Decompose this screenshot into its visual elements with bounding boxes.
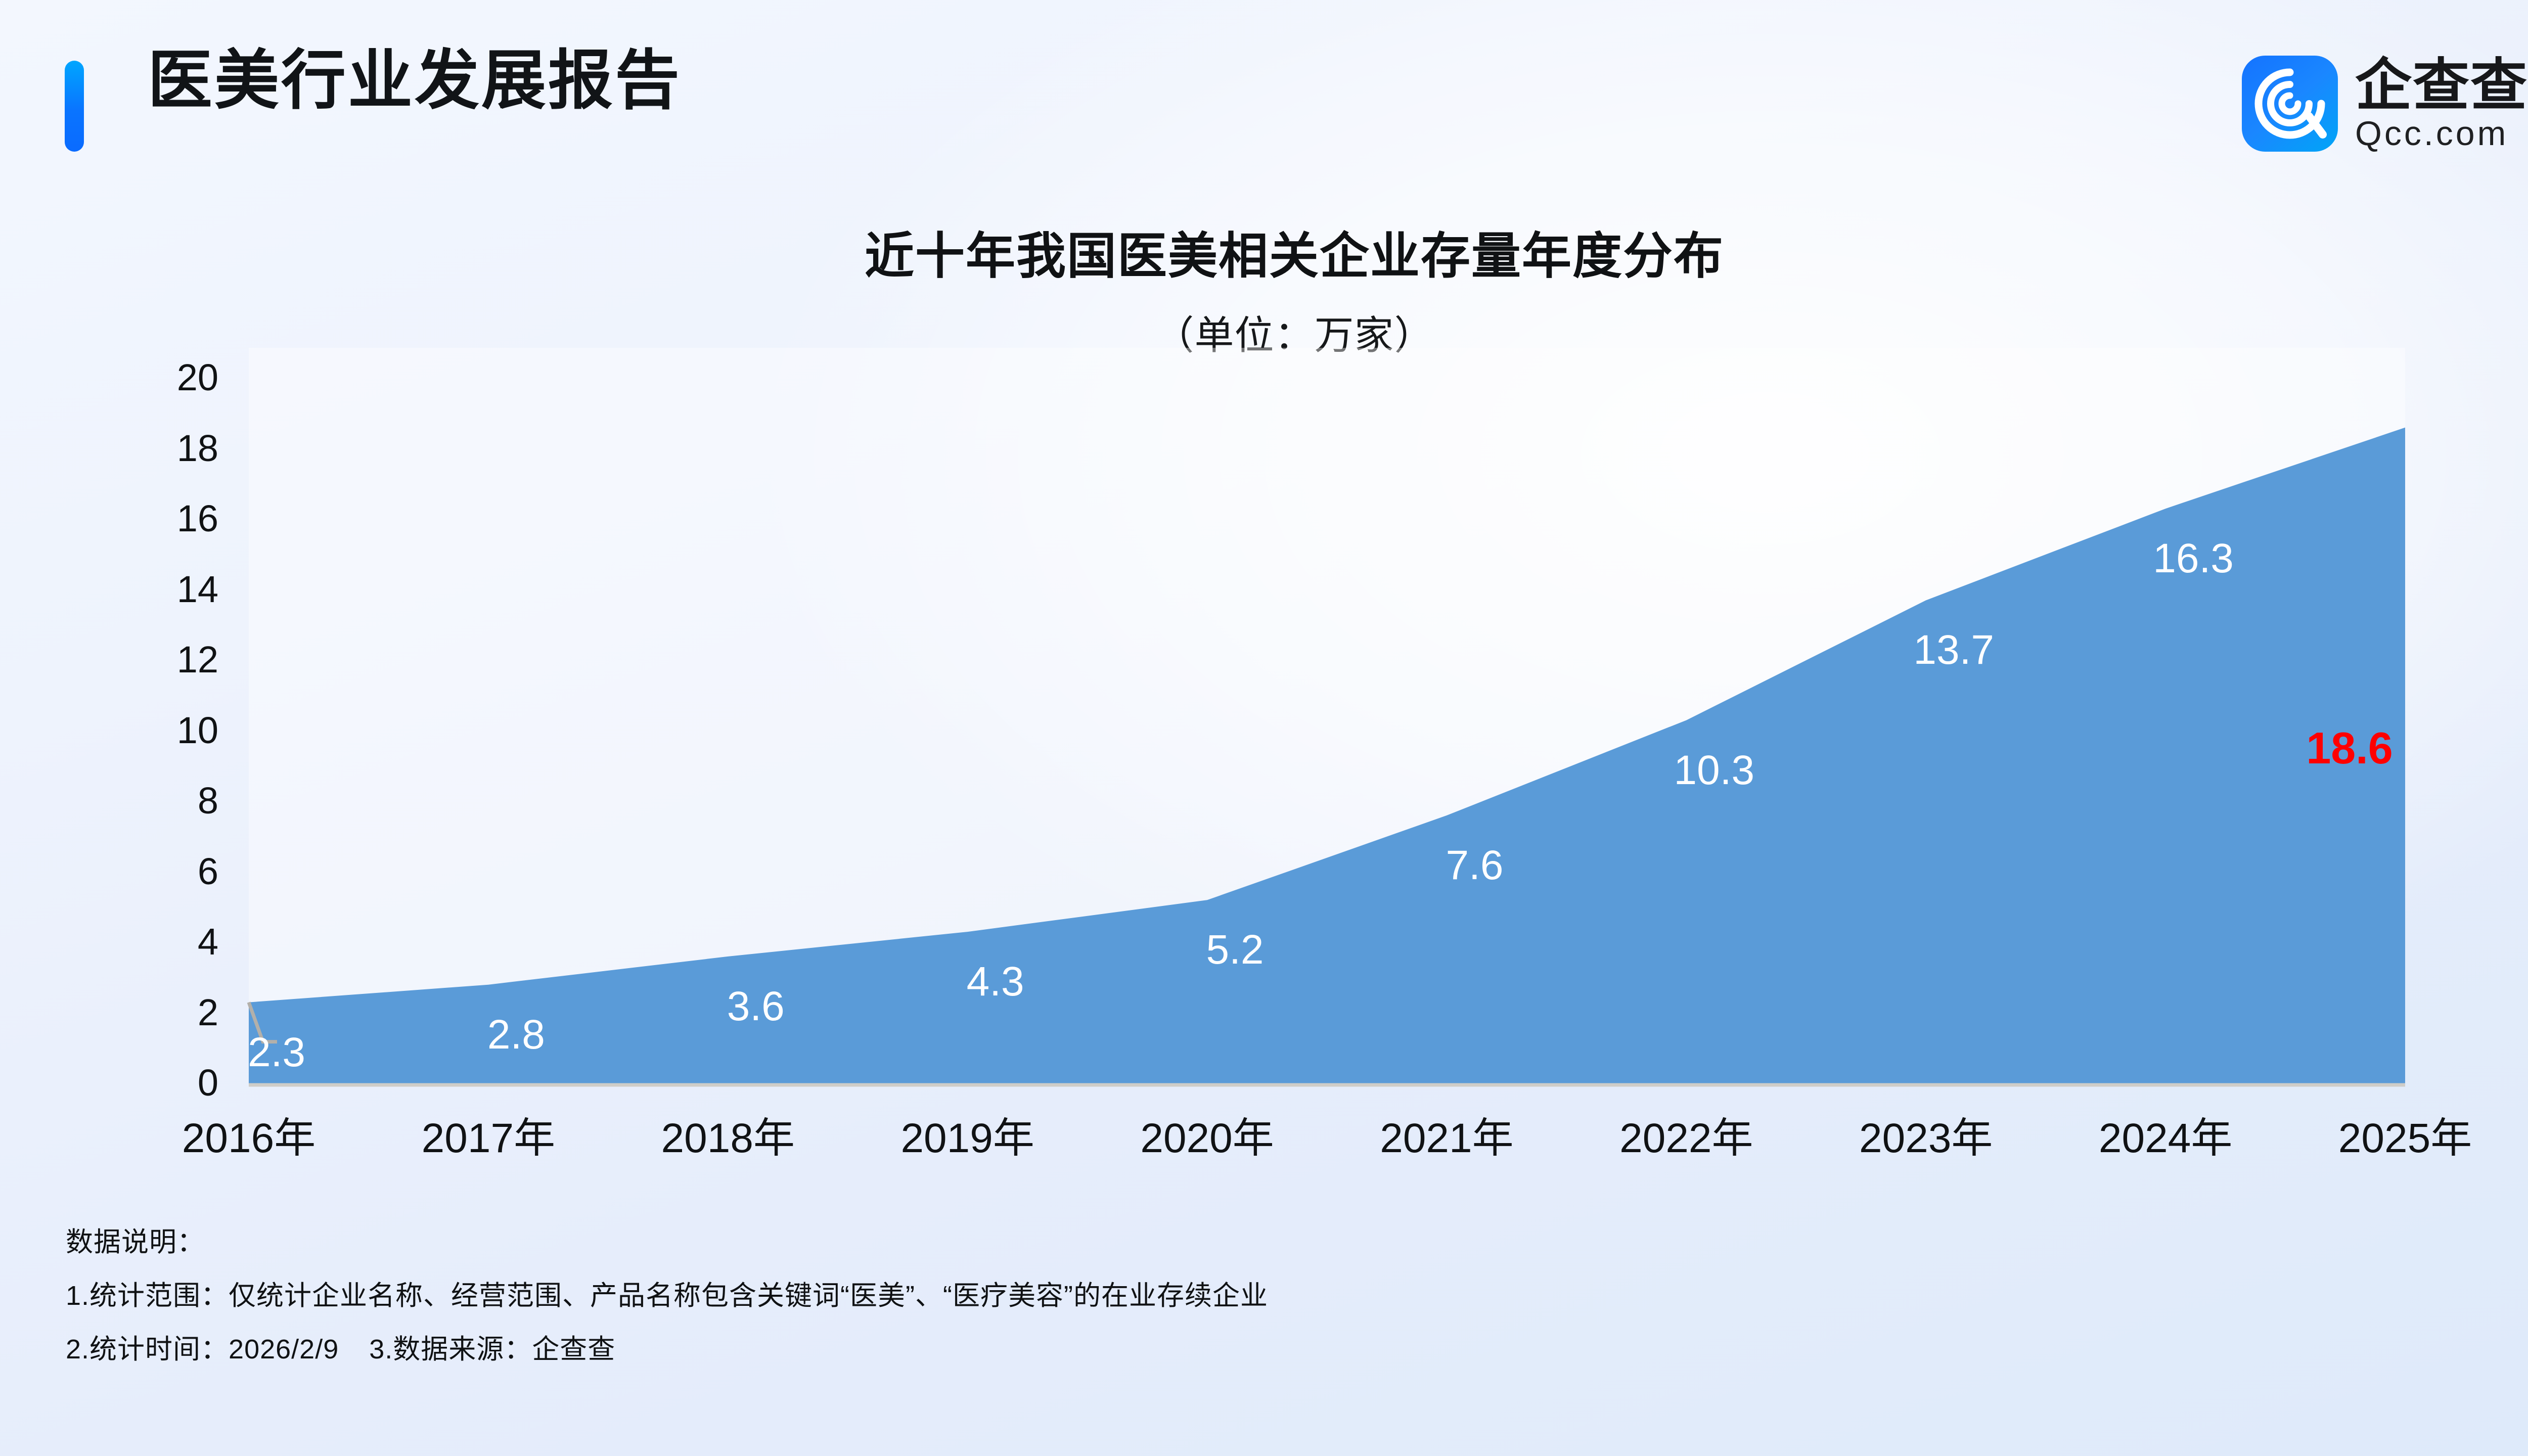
- data-point-label: 16.3: [2153, 538, 2234, 579]
- data-point-label: 5.2: [1206, 929, 1264, 971]
- brand-name-cn: 企查查: [2355, 57, 2528, 114]
- y-axis-tick-label: 6: [67, 853, 218, 890]
- x-axis-tick-label: 2023年: [1859, 1118, 1993, 1159]
- x-axis-tick-label: 2020年: [1140, 1118, 1274, 1159]
- brand-logo: 企查查 Qcc.com: [2242, 56, 2528, 152]
- data-point-label: 7.6: [1446, 845, 1503, 886]
- y-axis-tick-label: 20: [67, 359, 218, 396]
- brand-logo-text: 企查查 Qcc.com: [2355, 57, 2528, 151]
- y-axis-tick-label: 2: [67, 994, 218, 1031]
- qcc-spiral-q-icon: [2242, 56, 2338, 152]
- data-point-label: 10.3: [1674, 750, 1755, 791]
- chart-title: 近十年我国医美相关企业存量年度分布: [0, 229, 2528, 284]
- x-axis-tick-label: 2022年: [1619, 1118, 1753, 1159]
- y-axis-tick-label: 8: [67, 782, 218, 820]
- data-point-label: 3.6: [727, 986, 785, 1027]
- x-axis-tick-label: 2017年: [422, 1118, 555, 1159]
- y-axis-tick-label: 18: [67, 430, 218, 467]
- y-axis-tick-label: 0: [67, 1064, 218, 1102]
- area-series: [249, 428, 2405, 1083]
- y-axis-tick-label: 14: [67, 571, 218, 608]
- x-axis-tick-label: 2024年: [2099, 1118, 2232, 1159]
- footer-notes: 数据说明： 1.统计范围：仅统计企业名称、经营范围、产品名称包含关键词“医美”、…: [66, 1228, 2442, 1389]
- header: 医美行业发展报告 企查查 Qcc.com: [0, 0, 2528, 207]
- first-point-leader: [249, 1003, 277, 1042]
- note-data-source: 3.数据来源：企查查: [369, 1334, 615, 1364]
- x-axis-tick-label: 2018年: [661, 1118, 795, 1159]
- y-axis-tick-label: 4: [67, 923, 218, 961]
- y-axis-tick-label: 12: [67, 641, 218, 678]
- chart-subtitle: （单位：万家）: [0, 313, 2528, 357]
- plot-background: [249, 348, 2405, 1083]
- data-point-label: 18.6: [2306, 726, 2392, 770]
- note-statistical-scope: 1.统计范围：仅统计企业名称、经营范围、产品名称包含关键词“医美”、“医疗美容”…: [66, 1282, 2442, 1309]
- accent-bar: [65, 61, 84, 152]
- x-axis-tick-label: 2016年: [182, 1118, 315, 1159]
- y-axis-tick-label: 16: [67, 500, 218, 537]
- x-axis-tick-label: 2025年: [2338, 1118, 2472, 1159]
- note-time-and-source: 2.统计时间：2026/2/93.数据来源：企查查: [66, 1336, 2442, 1363]
- poster-root: 医美行业发展报告 企查查 Qcc.com 近十年我国医美相关企业存量年度分布 （…: [0, 0, 2528, 1456]
- notes-heading: 数据说明：: [66, 1228, 2442, 1256]
- data-point-label: 2.8: [487, 1014, 545, 1056]
- page-title: 医美行业发展报告: [148, 49, 682, 113]
- x-axis-tick-label: 2019年: [900, 1118, 1034, 1159]
- y-axis-tick-label: 10: [67, 712, 218, 749]
- data-point-label: 4.3: [967, 961, 1024, 1003]
- x-axis-tick-label: 2021年: [1380, 1118, 1513, 1159]
- brand-name-en: Qcc.com: [2355, 116, 2528, 151]
- note-statistical-time: 2.统计时间：2026/2/9: [66, 1334, 339, 1364]
- data-point-label: 2.3: [248, 1032, 305, 1073]
- data-point-label: 13.7: [1913, 629, 1994, 671]
